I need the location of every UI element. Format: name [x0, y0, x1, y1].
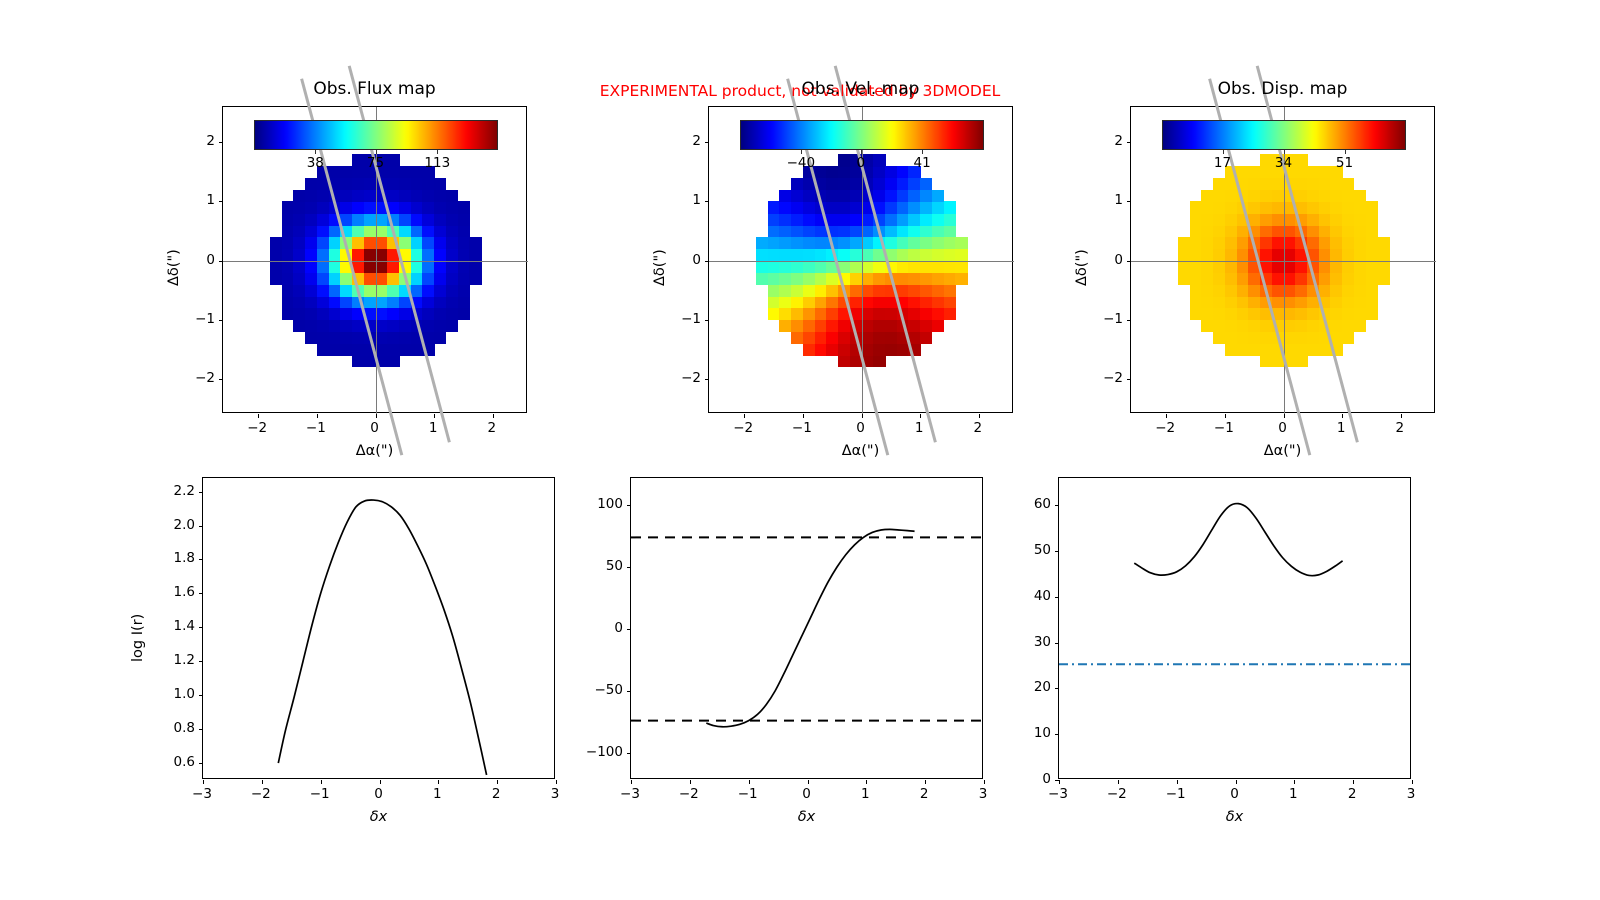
x-tick-label: 0 — [1278, 420, 1287, 436]
colorbar-tick-label: 0 — [856, 155, 865, 171]
profile-curves — [1059, 478, 1412, 780]
x-tick — [920, 414, 921, 418]
y-axis-label: log I(r) — [130, 614, 146, 662]
colorbar-tick-label: 34 — [1275, 155, 1292, 171]
y-tick — [705, 261, 709, 262]
y-tick-label: 1 — [670, 192, 701, 208]
x-tick — [1353, 780, 1354, 784]
figure-canvas: EXPERIMENTAL product, not validated by 3… — [0, 0, 1600, 900]
y-tick — [705, 201, 709, 202]
y-tick — [1127, 142, 1131, 143]
y-tick-label: 1.2 — [154, 652, 195, 668]
x-tick — [438, 780, 439, 784]
y-tick-label: −1 — [184, 311, 215, 327]
y-tick-label: 2 — [184, 133, 215, 149]
y-tick-label: 2.0 — [154, 517, 195, 533]
y-tick — [199, 661, 203, 662]
profile-curves — [631, 478, 984, 780]
colorbar-tick — [861, 150, 862, 154]
y-tick — [1055, 643, 1059, 644]
x-tick — [803, 414, 804, 418]
y-tick-label: 60 — [1010, 496, 1051, 512]
x-tick-label: 2 — [974, 420, 983, 436]
panel-title: Obs. Flux map — [222, 79, 527, 99]
y-tick — [199, 593, 203, 594]
y-tick-label: 20 — [1010, 679, 1051, 695]
y-tick — [705, 379, 709, 380]
y-tick — [1127, 201, 1131, 202]
colorbar-tick-label: −40 — [787, 155, 816, 171]
x-tick-label: 2 — [492, 786, 501, 802]
y-axis-label: Δδ(") — [1074, 249, 1090, 286]
x-tick-label: 0 — [856, 420, 865, 436]
y-axis-label: Δδ(") — [166, 249, 182, 286]
x-tick-label: −2 — [247, 420, 267, 436]
x-tick — [376, 414, 377, 418]
x-tick-label: 1 — [429, 420, 438, 436]
x-axis-label: δx — [1058, 809, 1411, 825]
y-tick-label: −1 — [670, 311, 701, 327]
y-tick-label: 100 — [582, 496, 623, 512]
colorbar-tick — [376, 150, 377, 154]
x-axis-label: δx — [202, 809, 555, 825]
colorbar-tick-label: 75 — [367, 155, 384, 171]
y-axis-label: Δδ(") — [652, 249, 668, 286]
x-tick — [1342, 414, 1343, 418]
x-tick — [1225, 414, 1226, 418]
x-tick-label: −2 — [251, 786, 271, 802]
y-tick — [627, 691, 631, 692]
x-tick-label: 1 — [1289, 786, 1298, 802]
x-tick-label: −1 — [1214, 420, 1234, 436]
x-tick-label: −1 — [738, 786, 758, 802]
y-tick — [219, 201, 223, 202]
y-tick-label: 1 — [184, 192, 215, 208]
colorbar — [1162, 120, 1406, 150]
x-tick — [317, 414, 318, 418]
y-tick — [1055, 505, 1059, 506]
colorbar-tick — [315, 150, 316, 154]
x-tick — [1284, 414, 1285, 418]
colorbar-tick — [801, 150, 802, 154]
y-tick — [1127, 320, 1131, 321]
x-tick-label: 1 — [861, 786, 870, 802]
x-tick-label: −2 — [679, 786, 699, 802]
y-tick — [627, 505, 631, 506]
x-tick — [984, 780, 985, 784]
y-tick — [199, 729, 203, 730]
panel-title: Obs. Disp. map — [1130, 79, 1435, 99]
x-tick-label: −2 — [1155, 420, 1175, 436]
y-tick — [199, 763, 203, 764]
x-tick-label: −1 — [310, 786, 330, 802]
profile-curves — [203, 478, 556, 780]
y-tick — [219, 379, 223, 380]
y-tick-label: 0 — [1010, 771, 1051, 787]
x-tick-label: 0 — [374, 786, 383, 802]
colorbar — [254, 120, 498, 150]
y-tick-label: 1.4 — [154, 618, 195, 634]
x-axis-label: Δα(") — [1130, 443, 1435, 459]
profile-axes — [202, 477, 555, 779]
y-tick-label: 1 — [1092, 192, 1123, 208]
y-tick — [219, 320, 223, 321]
y-tick-label: −2 — [184, 370, 215, 386]
x-tick-label: 2 — [488, 420, 497, 436]
colorbar-tick — [437, 150, 438, 154]
colorbar — [740, 120, 984, 150]
x-tick — [1059, 780, 1060, 784]
colorbar-tick — [922, 150, 923, 154]
panel-title: Obs. Vel. map — [708, 79, 1013, 99]
y-tick-label: −50 — [582, 682, 623, 698]
profile-axes — [1058, 477, 1411, 779]
panel-obs-disp-map: Obs. Disp. map 173451 −2−1012−2−1012Δα("… — [1130, 106, 1435, 413]
x-tick-label: 3 — [979, 786, 988, 802]
colorbar-tick — [1284, 150, 1285, 154]
panel-velocity-profile: −3−2−10123−100−50050100δx — [630, 477, 983, 779]
x-tick — [380, 780, 381, 784]
y-tick-label: 1.0 — [154, 686, 195, 702]
y-tick — [199, 492, 203, 493]
y-tick — [705, 320, 709, 321]
x-tick-label: 2 — [1396, 420, 1405, 436]
x-tick — [258, 414, 259, 418]
y-tick-label: 50 — [582, 558, 623, 574]
profile-axes — [630, 477, 983, 779]
x-tick-label: 0 — [1230, 786, 1239, 802]
x-tick-label: −3 — [1048, 786, 1068, 802]
map-axes: 3875113 — [222, 106, 527, 413]
x-tick — [744, 414, 745, 418]
x-tick — [262, 780, 263, 784]
x-tick-label: 1 — [433, 786, 442, 802]
y-tick — [1055, 780, 1059, 781]
x-tick — [497, 780, 498, 784]
y-tick-label: 10 — [1010, 725, 1051, 741]
x-tick — [631, 780, 632, 784]
x-tick — [749, 780, 750, 784]
y-tick — [1055, 551, 1059, 552]
colorbar-tick — [1223, 150, 1224, 154]
x-tick-label: 2 — [1348, 786, 1357, 802]
x-tick — [1118, 780, 1119, 784]
panel-obs-flux-map: Obs. Flux map 3875113 −2−1012−2−1012Δα("… — [222, 106, 527, 413]
y-tick — [705, 142, 709, 143]
y-tick-label: 30 — [1010, 634, 1051, 650]
y-tick-label: 1.8 — [154, 550, 195, 566]
x-axis-label: Δα(") — [222, 443, 527, 459]
y-tick — [219, 142, 223, 143]
x-tick — [321, 780, 322, 784]
x-tick-label: 1 — [1337, 420, 1346, 436]
y-tick-label: 0.6 — [154, 754, 195, 770]
y-tick-label: 1.6 — [154, 584, 195, 600]
y-tick-label: 0 — [582, 620, 623, 636]
x-tick — [866, 780, 867, 784]
x-tick — [979, 414, 980, 418]
x-tick-label: −2 — [733, 420, 753, 436]
y-tick-label: 0 — [670, 252, 701, 268]
panel-dispersion-profile: Vturb −3−2−101230102030405060δx — [1058, 477, 1411, 779]
y-tick — [219, 261, 223, 262]
x-tick — [925, 780, 926, 784]
y-tick-label: 50 — [1010, 542, 1051, 558]
y-tick — [1055, 597, 1059, 598]
x-axis-label: Δα(") — [708, 443, 1013, 459]
panel-flux-profile: −3−2−101230.60.81.01.21.41.61.82.02.2δxl… — [202, 477, 555, 779]
y-tick — [627, 629, 631, 630]
y-tick-label: −2 — [670, 370, 701, 386]
map-axes: −40041 — [708, 106, 1013, 413]
series-line — [278, 500, 486, 775]
y-tick — [199, 559, 203, 560]
x-axis-label: δx — [630, 809, 983, 825]
y-tick — [627, 567, 631, 568]
x-tick — [203, 780, 204, 784]
y-tick-label: −100 — [582, 744, 623, 760]
x-tick — [1294, 780, 1295, 784]
x-tick — [1412, 780, 1413, 784]
y-tick — [1127, 379, 1131, 380]
x-tick-label: 2 — [920, 786, 929, 802]
panel-obs-vel-map: Obs. Vel. map −40041 −2−1012−2−1012Δα(")… — [708, 106, 1013, 413]
series-line — [706, 529, 914, 726]
x-tick — [493, 414, 494, 418]
y-tick — [627, 753, 631, 754]
x-tick-label: 3 — [1407, 786, 1416, 802]
y-tick-label: 0 — [1092, 252, 1123, 268]
x-tick-label: −3 — [620, 786, 640, 802]
y-tick-label: 2 — [1092, 133, 1123, 149]
x-tick — [1177, 780, 1178, 784]
y-tick — [1055, 688, 1059, 689]
x-tick-label: 3 — [551, 786, 560, 802]
x-tick-label: −1 — [306, 420, 326, 436]
y-tick-label: 0 — [184, 252, 215, 268]
y-tick-label: 0.8 — [154, 720, 195, 736]
x-tick — [434, 414, 435, 418]
x-tick — [690, 780, 691, 784]
y-tick — [199, 526, 203, 527]
colorbar-tick-label: 17 — [1214, 155, 1231, 171]
x-tick — [1236, 780, 1237, 784]
x-tick-label: −3 — [192, 786, 212, 802]
x-tick — [1166, 414, 1167, 418]
y-tick — [199, 627, 203, 628]
series-line — [1134, 504, 1342, 576]
y-tick-label: −1 — [1092, 311, 1123, 327]
colorbar-tick-label: 41 — [914, 155, 931, 171]
y-tick-label: −2 — [1092, 370, 1123, 386]
x-tick — [556, 780, 557, 784]
x-tick — [1401, 414, 1402, 418]
x-tick-label: −1 — [792, 420, 812, 436]
x-tick-label: −1 — [1166, 786, 1186, 802]
colorbar-tick-label: 51 — [1336, 155, 1353, 171]
y-tick — [1055, 734, 1059, 735]
x-tick — [862, 414, 863, 418]
x-tick-label: −2 — [1107, 786, 1127, 802]
colorbar-tick-label: 38 — [307, 155, 324, 171]
x-tick-label: 0 — [802, 786, 811, 802]
y-tick-label: 2 — [670, 133, 701, 149]
x-tick — [808, 780, 809, 784]
map-axes: 173451 — [1130, 106, 1435, 413]
y-tick-label: 2.2 — [154, 483, 195, 499]
colorbar-tick — [1345, 150, 1346, 154]
colorbar-tick-label: 113 — [424, 155, 450, 171]
y-tick-label: 40 — [1010, 588, 1051, 604]
y-tick — [1127, 261, 1131, 262]
x-tick-label: 1 — [915, 420, 924, 436]
y-tick — [199, 695, 203, 696]
x-tick-label: 0 — [370, 420, 379, 436]
